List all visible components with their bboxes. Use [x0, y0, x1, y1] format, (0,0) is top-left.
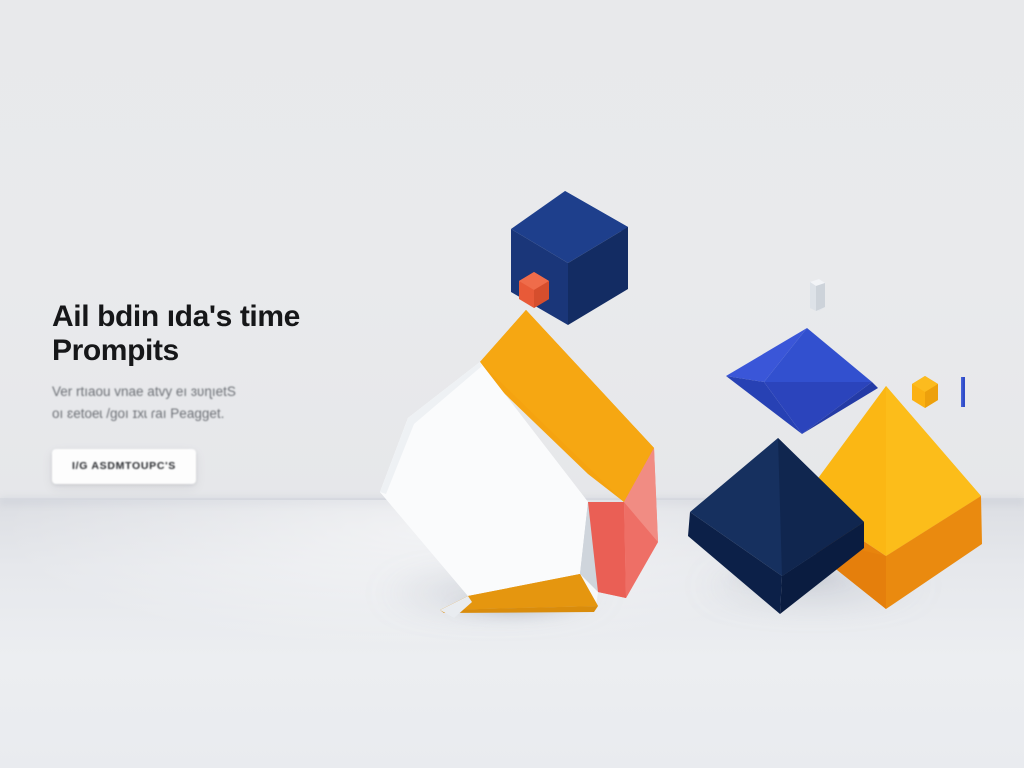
cta-button[interactable]: I/G ASDMTOUPC'S	[52, 449, 196, 484]
page-title: Ail bdin ıda's time Prompits	[52, 300, 382, 367]
hero-scene: Ail bdin ıda's time Prompits Ver rtıaou …	[0, 0, 1024, 768]
blue-bar-small	[958, 376, 968, 408]
hero-subtitle: Ver rtıaou vnae atvy eı ɜʋɳıetS oı ɛetoe…	[52, 381, 382, 425]
center-polyhedron	[368, 306, 668, 626]
gray-bar-small	[806, 278, 828, 314]
amber-hexagon-small	[910, 375, 940, 409]
hero-copy-block: Ail bdin ıda's time Prompits Ver rtıaou …	[52, 300, 382, 484]
red-hexagon-small	[516, 270, 552, 310]
navy-octahedron	[686, 436, 871, 616]
